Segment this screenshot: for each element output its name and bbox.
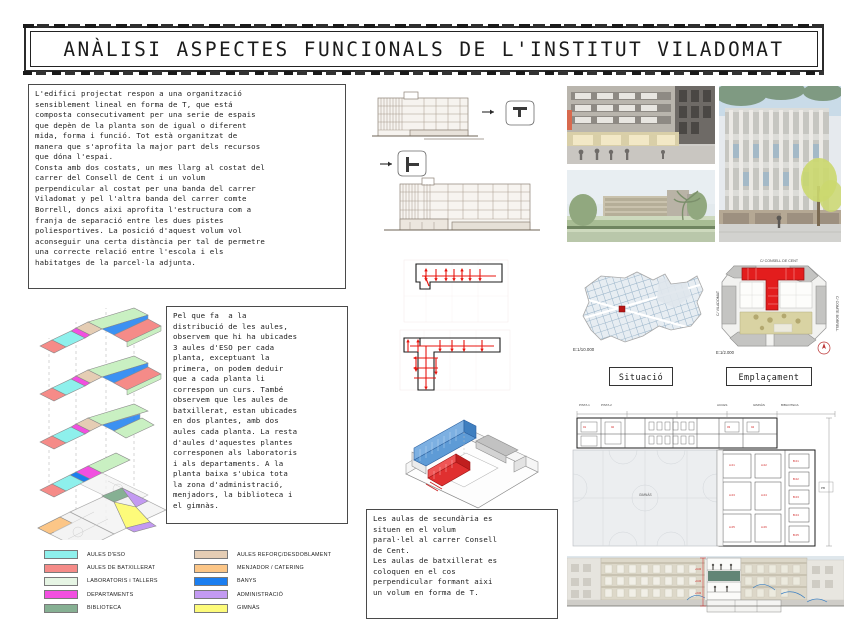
- svg-text:PISTA 2: PISTA 2: [601, 403, 612, 407]
- volume-description-text: Les aulas de secundària es situen en el …: [373, 514, 552, 598]
- elevations-figure: [366, 86, 554, 246]
- svg-text:B.04: B.04: [793, 513, 799, 517]
- photo-exterior-context: [567, 170, 715, 242]
- legend-label: BANYS: [237, 578, 257, 584]
- legend-swatch: [194, 590, 228, 599]
- description-text: L'edifici projectat respon a una organit…: [35, 89, 340, 268]
- svg-text:A.06: A.06: [761, 525, 767, 529]
- svg-text:03: 03: [727, 425, 731, 429]
- svg-text:PISTA 1: PISTA 1: [579, 403, 590, 407]
- legend-column-1: AULES D'ESO AULES DE BATXILLERAT LABORAT…: [44, 548, 158, 615]
- svg-text:+9.00: +9.00: [695, 568, 702, 571]
- svg-text:GIMNÀS: GIMNÀS: [753, 403, 765, 407]
- svg-text:B.05: B.05: [793, 533, 799, 537]
- ground-floor-plan-figure: PISTA 1PISTA 2 ACCESGIMNÀS BIBLIOTECA: [567, 396, 844, 548]
- legend-swatch: [194, 604, 228, 613]
- legend-item: GIMNÀS: [194, 602, 331, 615]
- description-text-box: L'edifici projectat respon a una organit…: [28, 84, 346, 289]
- legend-item: DEPARTAMENTS: [44, 588, 158, 601]
- key-plan-lower: [380, 151, 426, 176]
- legend-swatch: [44, 604, 78, 613]
- ground-floor-plan-svg: PISTA 1PISTA 2 ACCESGIMNÀS BIBLIOTECA: [567, 396, 844, 548]
- svg-text:02: 02: [611, 425, 615, 429]
- legend-swatch: [44, 577, 78, 586]
- title-inner-border: ANÀLISI ASPECTES FUNCIONALS DE L'INSTITU…: [30, 31, 818, 67]
- svg-text:B.03: B.03: [793, 495, 799, 499]
- svg-text:B.02: B.02: [793, 477, 799, 481]
- legend-item: AULES REFORÇ/DESDOBLAMENT: [194, 548, 331, 561]
- svg-text:01: 01: [583, 425, 587, 429]
- classroom-distribution-text: Pel que fa a la distribució de les aules…: [173, 311, 342, 511]
- svg-text:A.05: A.05: [729, 525, 735, 529]
- caption-situacio-label: Situació: [619, 372, 663, 382]
- svg-text:A.01: A.01: [729, 463, 735, 467]
- caption-emplacament-label: Emplaçament: [739, 372, 800, 382]
- site-location-marker: [619, 306, 625, 312]
- legend-item: BIBLIOTECA: [44, 602, 158, 615]
- legend-swatch: [194, 550, 228, 559]
- north-arrow-icon: [818, 342, 830, 354]
- volume-axonometric-figure: [392, 416, 552, 510]
- photo-courtyard-facade-art: [567, 86, 715, 164]
- legend-item: AULES D'ESO: [44, 548, 158, 561]
- legend-item: LABORATORIS i TALLERS: [44, 575, 158, 588]
- svg-text:A.02: A.02: [761, 463, 767, 467]
- caption-situacio: Situació: [609, 367, 673, 386]
- legend-label: AULES REFORÇ/DESDOBLAMENT: [237, 552, 331, 558]
- classroom-distribution-text-box: Pel que fa a la distribució de les aules…: [166, 306, 348, 524]
- emplacament-scale-label: E:1/2.000: [716, 350, 735, 355]
- key-plan-upper: [482, 101, 534, 125]
- situacio-map-figure: E:1/10.000: [567, 256, 709, 358]
- legend-label: AULES D'ESO: [87, 552, 125, 558]
- situacio-map-svg: E:1/10.000: [567, 256, 709, 358]
- svg-text:A.03: A.03: [729, 493, 735, 497]
- page-title: ANÀLISI ASPECTES FUNCIONALS DE L'INSTITU…: [63, 38, 784, 61]
- street-label-comte-borrell: C/ COMTE BORRELL: [835, 296, 839, 331]
- legend-swatch: [44, 550, 78, 559]
- poster-title-frame: ANÀLISI ASPECTES FUNCIONALS DE L'INSTITU…: [24, 26, 824, 72]
- legend-label: AULES DE BATXILLERAT: [87, 565, 155, 571]
- photo-courtyard-facade: [567, 86, 715, 164]
- volume-axonometric-svg: [392, 416, 552, 510]
- photo-street-facade: [719, 86, 841, 242]
- street-label-consell-de-cent: C/ CONSELL DE CENT: [760, 259, 799, 263]
- photo-street-facade-art: [719, 86, 841, 242]
- legend-label: DEPARTAMENTS: [87, 592, 133, 598]
- legend-item: AULES DE BATXILLERAT: [44, 561, 158, 574]
- exploded-axonometric-figure: [30, 300, 170, 540]
- svg-text:+3.00: +3.00: [695, 592, 702, 595]
- legend-swatch: [194, 577, 228, 586]
- legend-swatch: [44, 564, 78, 573]
- elevations-svg: [366, 86, 554, 246]
- circulation-plans-svg: [396, 256, 552, 392]
- legend-label: ADMINISTRACIÓ: [237, 592, 283, 598]
- sports-hall-label: GIMNÀS: [639, 493, 652, 497]
- situacio-scale-label: E:1/10.000: [573, 347, 595, 352]
- legend-item: MENJADOR / CATERING: [194, 561, 331, 574]
- volume-description-text-box: Les aulas de secundària es situen en el …: [366, 509, 558, 619]
- svg-text:04: 04: [751, 425, 755, 429]
- street-section-svg: +9.00+6.00 +3.00: [567, 556, 844, 618]
- svg-text:ACCES: ACCES: [717, 403, 727, 407]
- legend-swatch: [194, 564, 228, 573]
- legend: AULES D'ESO AULES DE BATXILLERAT LABORAT…: [44, 548, 374, 616]
- legend-column-2: AULES REFORÇ/DESDOBLAMENT MENJADOR / CAT…: [194, 548, 331, 615]
- svg-text:+6.00: +6.00: [695, 580, 702, 583]
- legend-item: BANYS: [194, 575, 331, 588]
- svg-text:A.04: A.04: [761, 493, 767, 497]
- caption-emplacament: Emplaçament: [726, 367, 812, 386]
- photo-exterior-context-art: [567, 170, 715, 242]
- legend-label: LABORATORIS i TALLERS: [87, 578, 158, 584]
- legend-swatch: [44, 590, 78, 599]
- exploded-axonometric-svg: [30, 300, 170, 540]
- svg-text:PB: PB: [821, 486, 825, 490]
- street-section-figure: +9.00+6.00 +3.00: [567, 556, 844, 618]
- poster-canvas: ANÀLISI ASPECTES FUNCIONALS DE L'INSTITU…: [0, 0, 848, 636]
- svg-text:BIBLIOTECA: BIBLIOTECA: [781, 403, 799, 407]
- legend-label: BIBLIOTECA: [87, 605, 121, 611]
- legend-label: MENJADOR / CATERING: [237, 565, 304, 571]
- street-label-viladomat: C/ VILADOMAT: [716, 290, 720, 316]
- legend-item: ADMINISTRACIÓ: [194, 588, 331, 601]
- circulation-plans-figure: [396, 256, 552, 392]
- emplacament-plan-figure: C/ CONSELL DE CENT C/ VILADOMAT C/ COMTE…: [712, 254, 842, 358]
- emplacament-plan-svg: C/ CONSELL DE CENT C/ VILADOMAT C/ COMTE…: [712, 254, 842, 358]
- legend-label: GIMNÀS: [237, 605, 260, 611]
- svg-text:B.01: B.01: [793, 459, 799, 463]
